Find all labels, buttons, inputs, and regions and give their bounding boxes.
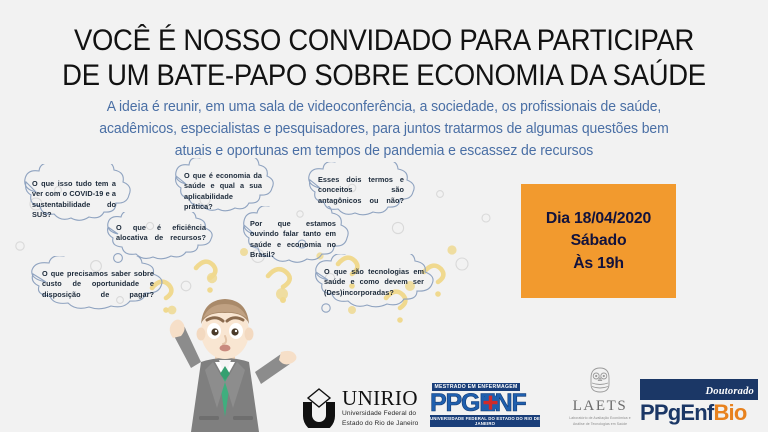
- thought-bubble-custo-oportunidade: O que precisamos saber sobre custo de op…: [18, 256, 178, 318]
- ppgenf-logo: MESTRADO EM ENFERMAGEM PPGENF UNIVERSIDA…: [430, 383, 542, 427]
- page-title: VOCÊ É NOSSO CONVIDADO PARA PARTICIPAR D…: [27, 24, 741, 94]
- thought-bubble-text: O que precisamos saber sobre custo de op…: [42, 269, 154, 300]
- ppgenf-wordmark-row: PPGENF: [430, 391, 542, 415]
- ppgenfbio-banner: Doutorado: [640, 379, 758, 400]
- laets-name: LAETS: [565, 399, 635, 414]
- ppgenfbio-banner-text: Doutorado: [706, 386, 754, 397]
- thought-bubble-text: Esses dois termos e conceitos são antagô…: [318, 175, 404, 206]
- laets-subtitle-line-2: Análise de Tecnologias em Saúde: [565, 422, 635, 426]
- unirio-subtitle-line-1: Universidade Federal do: [342, 410, 418, 418]
- ppgenfbio-wordmark: PPgEnfBio: [640, 401, 760, 426]
- unirio-name: UNIRIO: [342, 388, 418, 409]
- subtitle-line-2: acadêmicos, especialistas e pesquisadore…: [33, 118, 736, 140]
- subtitle-line-1: A ideia é reunir, em uma sala de videoco…: [33, 96, 736, 118]
- ppgenfbio-logo: Doutorado PPgEnfBio: [640, 379, 760, 426]
- unirio-text-block: UNIRIO Universidade Federal do Estado do…: [342, 388, 418, 428]
- thought-bubble-tecnologias: O que são tecnologias em saúde e como de…: [302, 254, 442, 316]
- ppgenf-wordmark: PPGENF: [430, 389, 526, 417]
- laets-subtitle-line-1: Laboratório de Avaliação Econômica e: [565, 416, 635, 420]
- unirio-logo: UNIRIO Universidade Federal do Estado do…: [300, 388, 418, 428]
- event-weekday: Sábado: [571, 232, 627, 249]
- headline-line-1: VOCÊ É NOSSO CONVIDADO PARA PARTICIPAR: [27, 24, 741, 59]
- unirio-subtitle-line-2: Estado do Rio de Janeiro: [342, 420, 418, 428]
- poster-canvas: VOCÊ É NOSSO CONVIDADO PARA PARTICIPAR D…: [0, 0, 768, 432]
- ppgenfbio-wordmark-part-1: PPgEnf: [640, 400, 713, 425]
- thought-bubble-text: O que é eficiência alocativa de recursos…: [116, 223, 206, 244]
- headline-line-2: DE UM BATE-PAPO SOBRE ECONOMIA DA SAÚDE: [27, 59, 741, 94]
- subtitle-paragraph: A ideia é reunir, em uma sala de videoco…: [33, 96, 736, 163]
- owl-icon: [589, 367, 611, 393]
- logo-row: UNIRIO Universidade Federal do Estado do…: [0, 380, 768, 432]
- event-date: Dia 18/04/2020: [546, 210, 651, 227]
- laets-logo: LAETS Laboratório de Avaliação Econômica…: [565, 367, 635, 427]
- thought-bubble-text: O que são tecnologias em saúde e como de…: [324, 267, 424, 298]
- medical-cross-icon: [482, 394, 499, 411]
- ppgenfbio-wordmark-part-2: Bio: [713, 400, 746, 425]
- unirio-mark-icon: [300, 388, 338, 428]
- event-time: Às 19h: [573, 255, 624, 272]
- event-date-card: Dia 18/04/2020 Sábado Às 19h: [521, 184, 676, 298]
